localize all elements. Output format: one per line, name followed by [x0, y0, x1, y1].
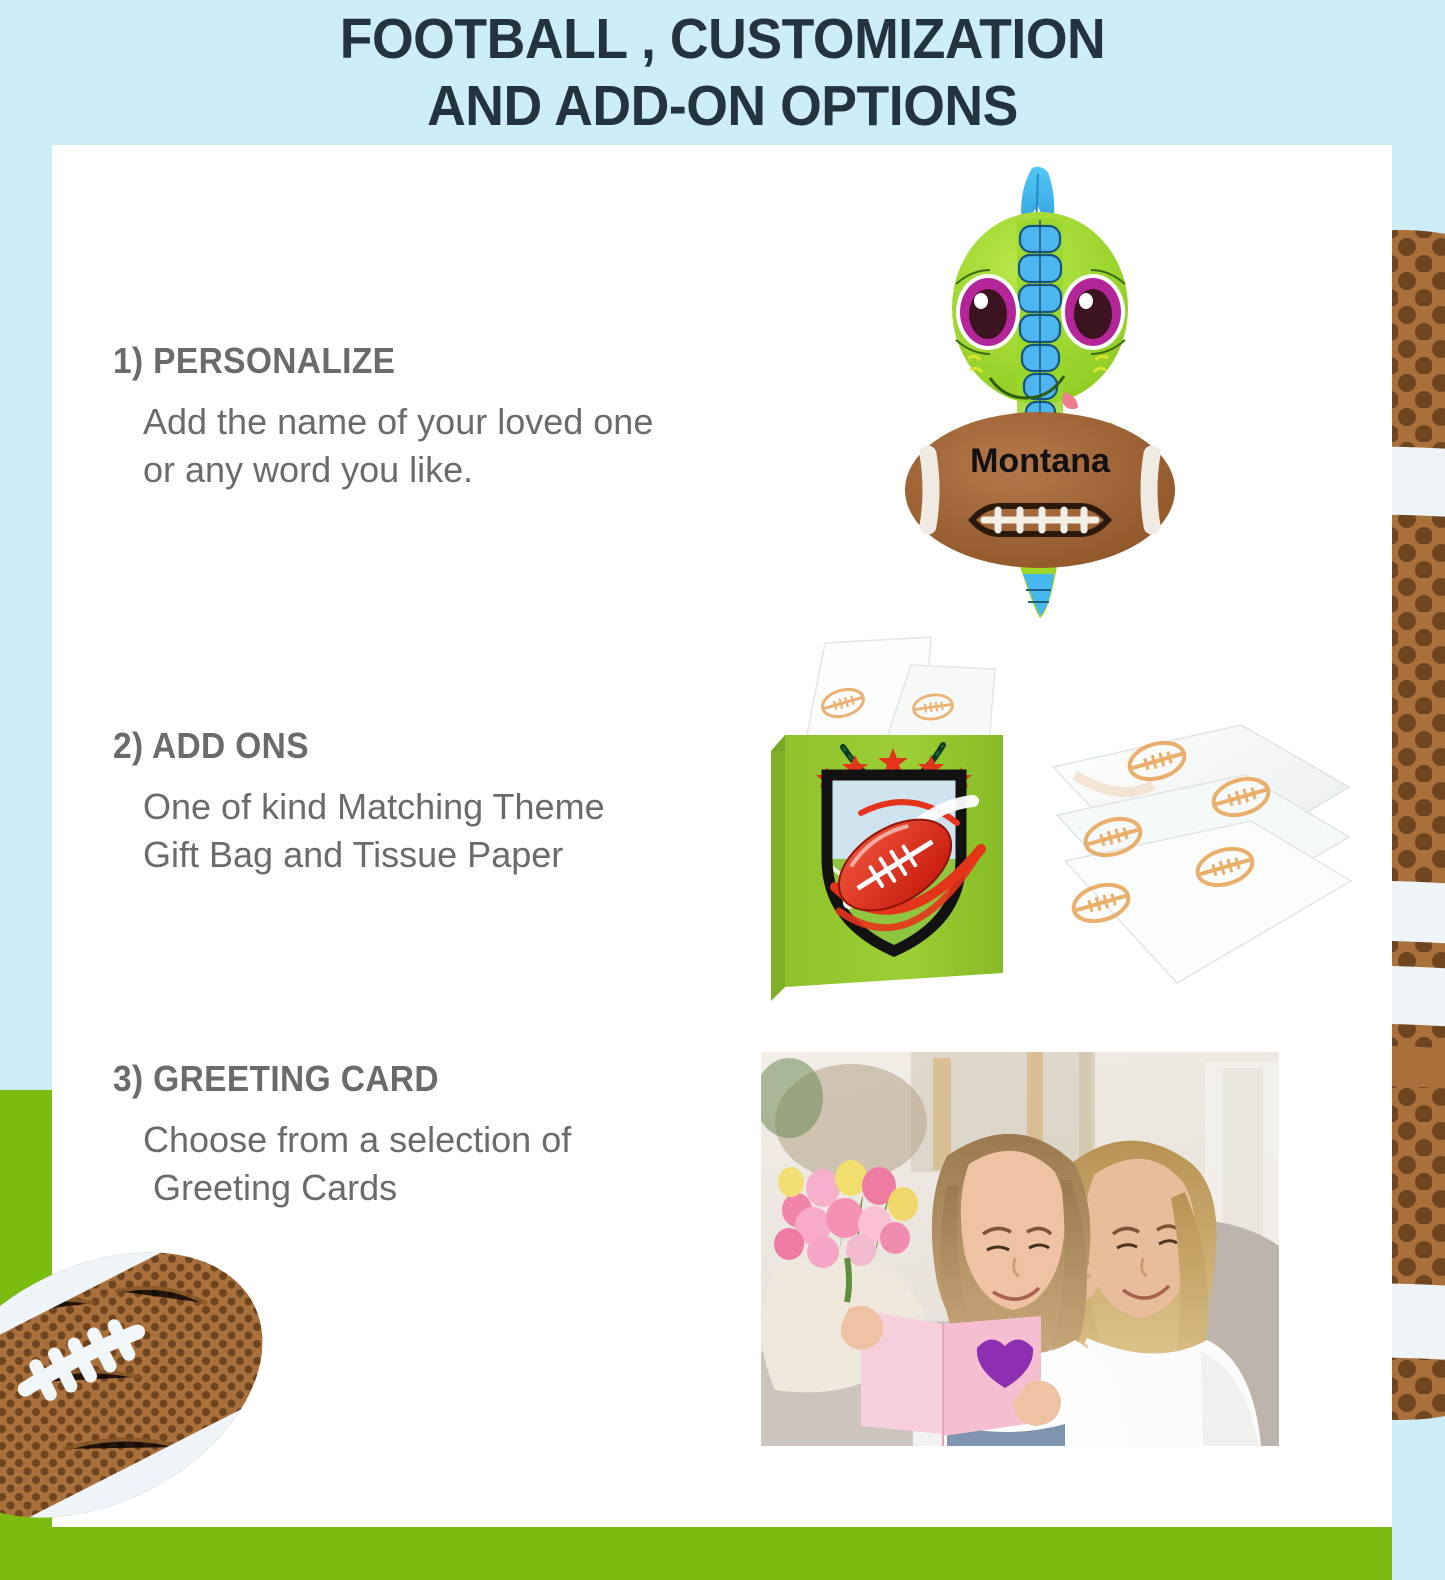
page-title: FOOTBALL , CUSTOMIZATION AND ADD-ON OPTI…	[43, 6, 1401, 141]
step-3-body-line-1: Choose from a selection of	[143, 1116, 571, 1164]
personalized-name-text: Montana	[970, 442, 1111, 480]
greeting-card-photo	[761, 1052, 1279, 1446]
page-title-line-1: FOOTBALL , CUSTOMIZATION	[43, 6, 1401, 73]
page-title-line-2: AND ADD-ON OPTIONS	[43, 73, 1401, 140]
tissue-in-bag	[805, 637, 995, 745]
step-1-body: Add the name of your loved one or any wo…	[143, 398, 653, 494]
tissue-paper-stack	[1053, 725, 1351, 983]
football-illustration	[0, 1195, 285, 1565]
step-1-body-line-1: Add the name of your loved one	[143, 398, 653, 446]
step-3-heading: 3) GREETING CARD	[113, 1058, 539, 1100]
step-1-body-line-2: or any word you like.	[143, 446, 653, 494]
pink-greeting-card	[861, 1310, 1041, 1446]
step-greeting-card: 3) GREETING CARD Choose from a selection…	[113, 1058, 571, 1212]
plush-tail	[1018, 560, 1058, 618]
step-2-body-line-1: One of kind Matching Theme	[143, 783, 605, 831]
step-2-body: One of kind Matching Theme Gift Bag and …	[143, 783, 605, 879]
gift-bag	[771, 735, 1003, 1001]
football-body	[905, 412, 1175, 568]
step-2-heading: 2) ADD ONS	[113, 725, 570, 767]
gift-bag-and-tissue-paper-image	[765, 615, 1355, 1005]
step-personalize: 1) PERSONALIZE Add the name of your love…	[113, 340, 653, 494]
step-2-body-line-2: Gift Bag and Tissue Paper	[143, 831, 605, 879]
step-1-heading: 1) PERSONALIZE	[113, 340, 616, 382]
football-pattern-strip	[1392, 0, 1445, 1580]
step-add-ons: 2) ADD ONS One of kind Matching Theme Gi…	[113, 725, 605, 879]
plush-football-toy-image: Montana	[880, 160, 1200, 620]
